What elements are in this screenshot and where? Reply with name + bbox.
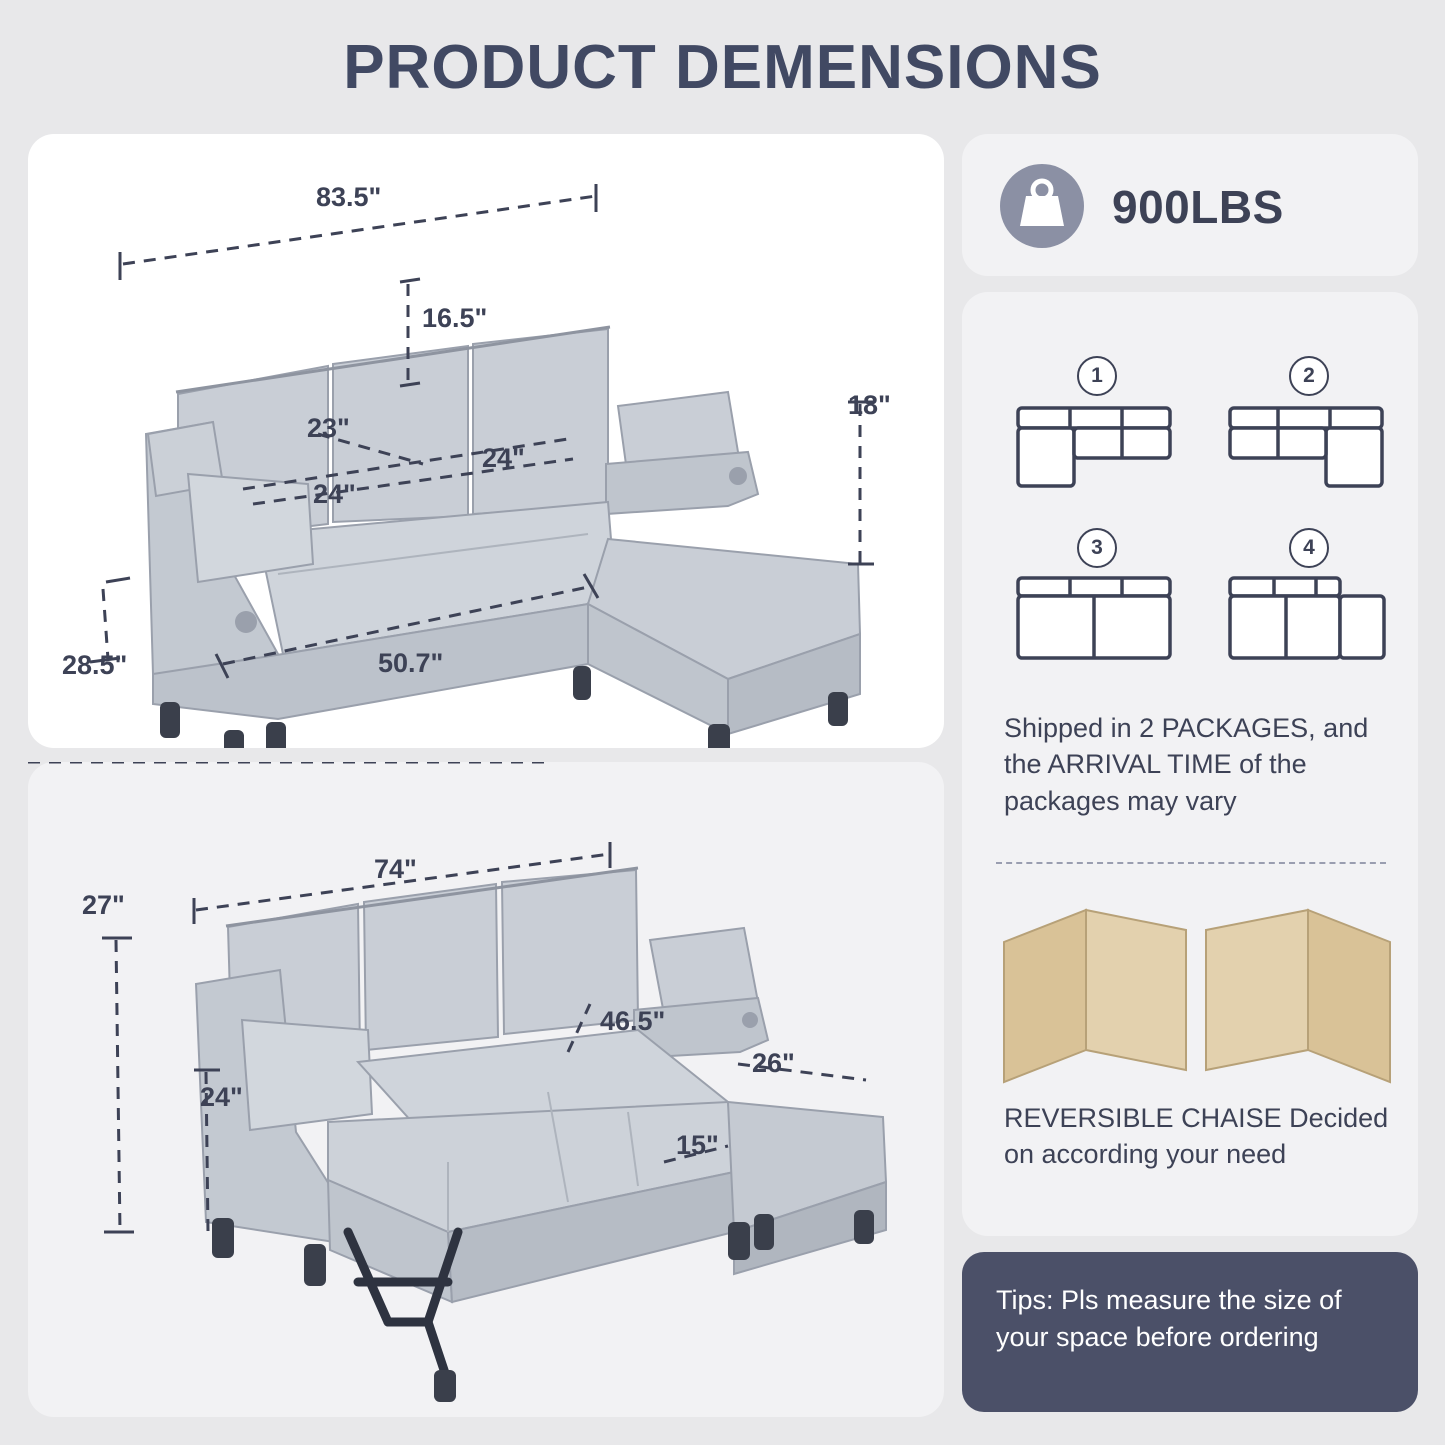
shipping-boxes-illustration [990,900,1410,1090]
package-number-3: 3 [1077,528,1117,568]
dim-chaise-width: 26" [752,1048,795,1079]
dim-back-height: 16.5" [422,303,487,334]
sofa-bed-diagram [28,762,944,1417]
dim-arm-height: 24" [200,1082,243,1113]
dim-width-top: 83.5" [316,182,381,213]
dim-seat-width-left: 24" [313,479,356,510]
config-1-shape [1000,398,1190,498]
dim-chaise-length: 50.7" [378,648,443,679]
dim-total-height: 27" [82,890,125,921]
sofa-sectional-diagram [28,134,944,748]
dim-seat-width-mid: 24" [482,443,525,474]
package-note: Shipped in 2 PACKAGES, and the ARRIVAL T… [1004,710,1404,819]
weight-capacity-label: 900LBS [1112,180,1284,234]
package-diagram-2: 2 [1212,356,1402,496]
weight-icon-circle [1000,164,1084,248]
config-2-shape [1212,398,1402,498]
package-diagram-3: 3 [1000,528,1190,668]
package-number-1: 1 [1077,356,1117,396]
dim-depth: 28.5" [62,650,127,681]
dim-bed-length: 46.5" [600,1006,665,1037]
dim-bed-width: 74" [374,854,417,885]
package-number-2: 2 [1289,356,1329,396]
config-4-shape [1212,570,1402,670]
section-divider [996,862,1386,864]
tips-text: Tips: Pls measure the size of your space… [996,1282,1392,1357]
reversible-chaise-note: REVERSIBLE CHAISE Decided on according y… [1004,1100,1416,1173]
package-diagram-1: 1 [1000,356,1190,496]
page-title: PRODUCT DEMENSIONS [0,32,1445,103]
weight-icon [1000,164,1084,248]
package-number-4: 4 [1289,528,1329,568]
dim-seat-height: 15" [676,1130,719,1161]
dim-seat-depth-left: 23" [307,413,350,444]
config-3-shape [1000,570,1190,670]
package-diagram-4: 4 [1212,528,1402,668]
dim-chaise-height: 18" [848,390,891,421]
